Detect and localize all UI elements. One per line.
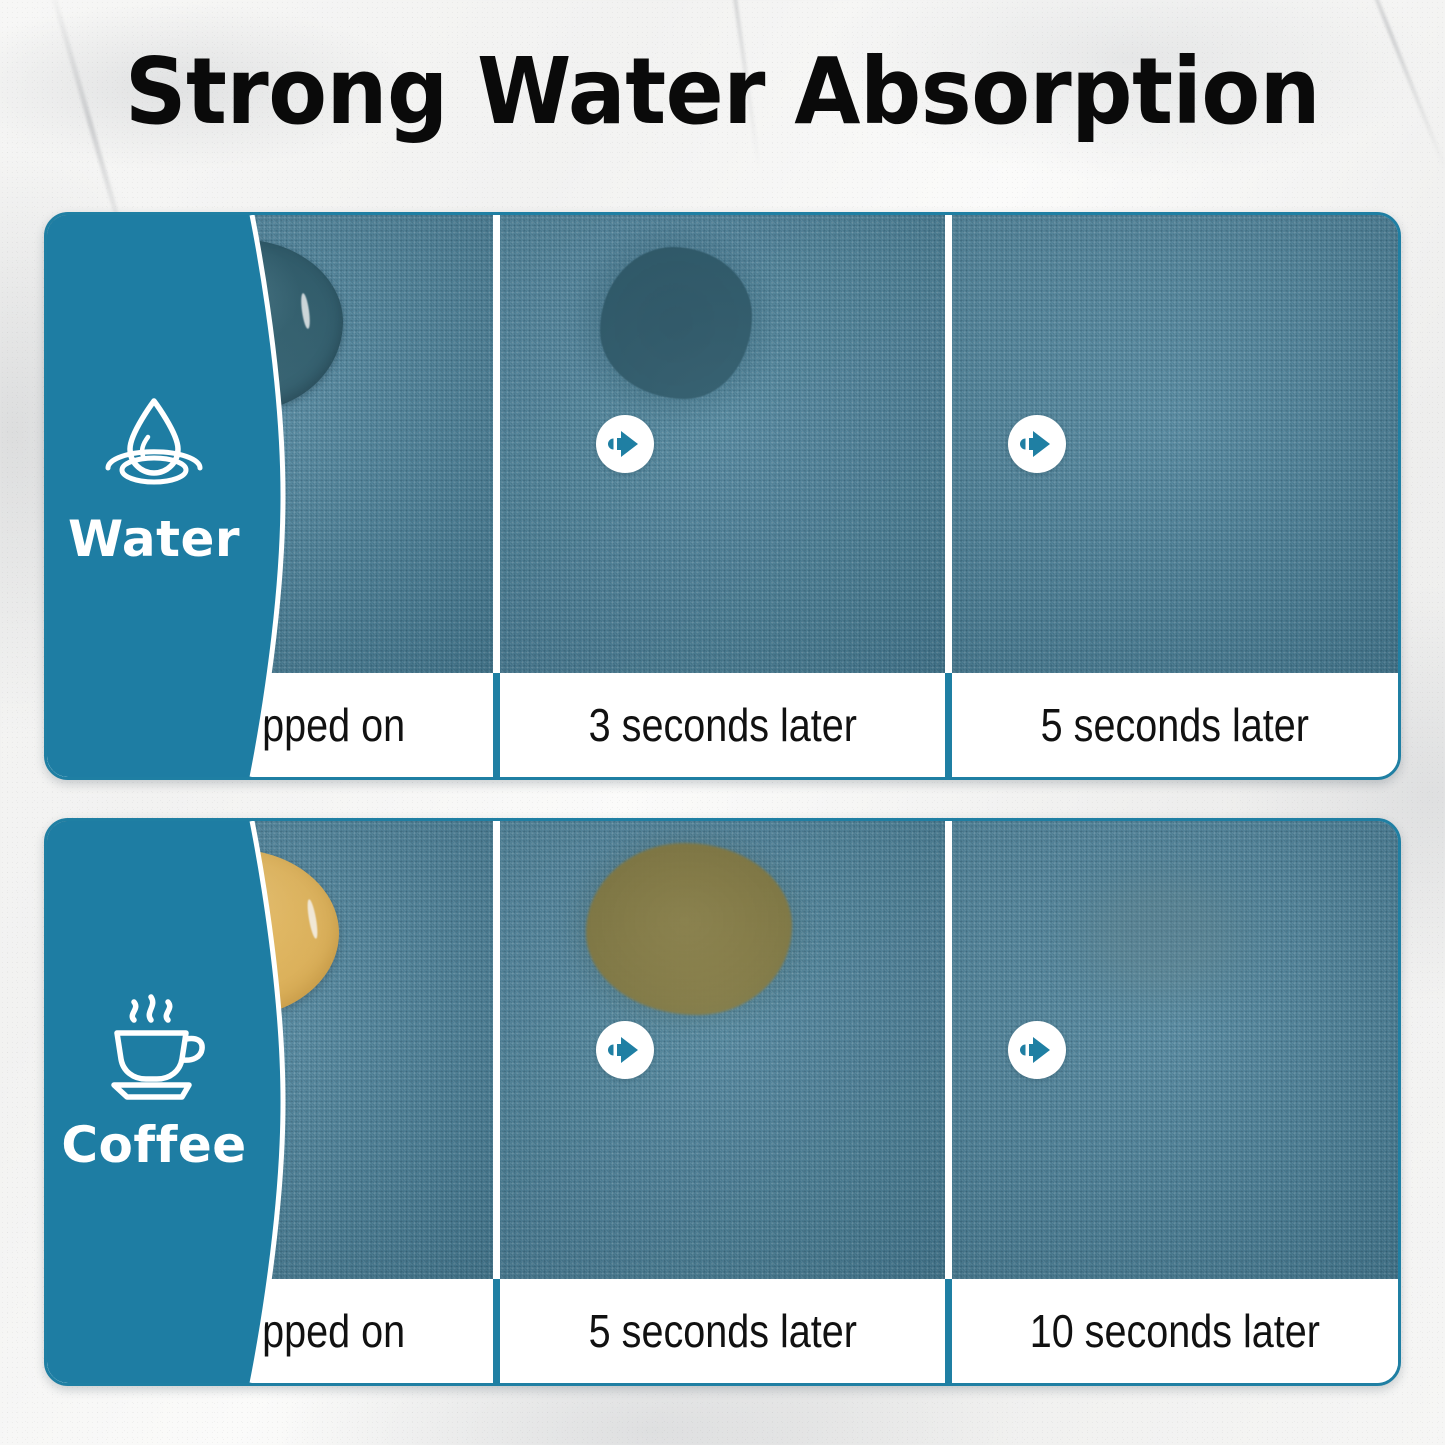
- caption-divider: [493, 673, 500, 777]
- coffee-droplet-fresh: [125, 849, 339, 1017]
- caption-coffee-0: Just dripped on: [78, 1279, 461, 1383]
- photo-cell-coffee-1: [500, 821, 946, 1279]
- arrow-right-icon: [1008, 1021, 1066, 1079]
- cell-divider: [945, 821, 952, 1279]
- photo-cell-water-1: [500, 215, 946, 673]
- comparison-card-water: Just dripped on 3 seconds later 5 second…: [44, 212, 1401, 780]
- page-title: Strong Water Absorption: [51, 40, 1395, 144]
- water-stain-3s: [600, 247, 752, 399]
- coffee-stain-5s: [586, 843, 792, 1015]
- coffee-residual-mark: [1042, 841, 1282, 1031]
- cell-divider: [493, 215, 500, 673]
- cell-divider: [945, 215, 952, 673]
- caption-row-water: Just dripped on 3 seconds later 5 second…: [47, 673, 1398, 777]
- caption-row-coffee: Just dripped on 5 seconds later 10 secon…: [47, 1279, 1398, 1383]
- comparison-card-coffee: Just dripped on 5 seconds later 10 secon…: [44, 818, 1401, 1386]
- water-droplet-fresh: [137, 239, 343, 411]
- water-stain-halo: [570, 221, 780, 427]
- photo-cell-coffee-0: [47, 821, 493, 1279]
- caption-water-2: 5 seconds later: [984, 673, 1367, 777]
- caption-coffee-1: 5 seconds later: [531, 1279, 914, 1383]
- caption-divider: [945, 673, 952, 777]
- arrow-right-icon: [596, 1021, 654, 1079]
- photo-row-coffee: [47, 821, 1398, 1279]
- arrow-right-icon: [596, 415, 654, 473]
- caption-divider: [493, 1279, 500, 1383]
- photo-cell-water-0: [47, 215, 493, 673]
- photo-row-water: [47, 215, 1398, 673]
- caption-coffee-2: 10 seconds later: [984, 1279, 1367, 1383]
- arrow-right-icon: [1008, 415, 1066, 473]
- caption-divider: [945, 1279, 952, 1383]
- cell-divider: [493, 821, 500, 1279]
- coffee-stain-halo: [562, 823, 814, 1035]
- caption-water-0: Just dripped on: [78, 673, 461, 777]
- caption-water-1: 3 seconds later: [531, 673, 914, 777]
